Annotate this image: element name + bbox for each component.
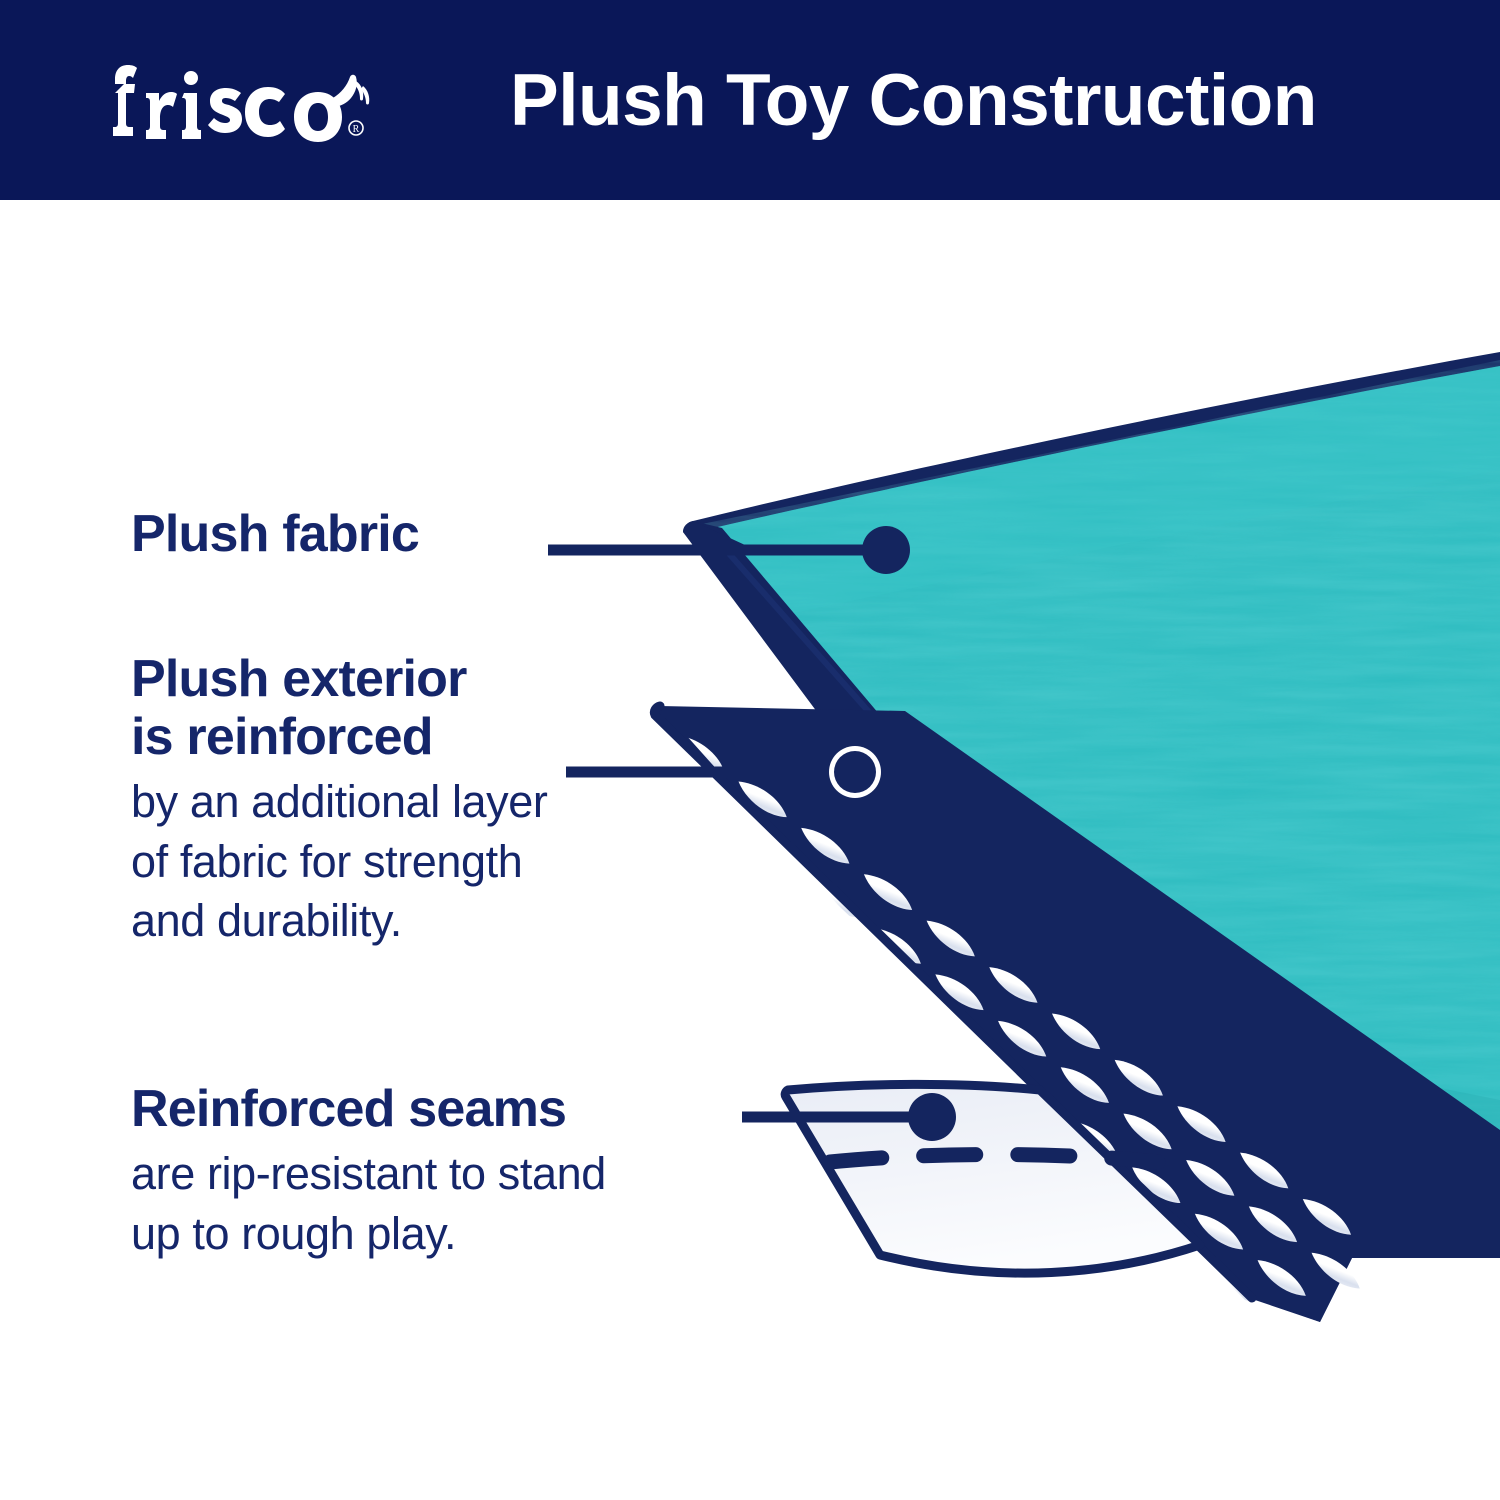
callout-plush-exterior: Plush exterior is reinforced by an addit… [131,650,547,951]
leader-dot-plush-fabric [862,526,910,574]
callout-reinforced-seams-body: are rip-resistant to stand up to rough p… [131,1144,606,1263]
callout-reinforced-seams: Reinforced seams are rip-resistant to st… [131,1080,606,1263]
infographic-page: R Plush Toy Construction [0,0,1500,1500]
callout-plush-exterior-headline: Plush exterior is reinforced [131,650,547,766]
leader-dot-plush-exterior [834,751,876,793]
callout-reinforced-seams-headline: Reinforced seams [131,1080,606,1138]
callout-plush-fabric: Plush fabric [131,505,419,563]
callout-plush-fabric-headline: Plush fabric [131,505,419,563]
callout-plush-exterior-body: by an additional layer of fabric for str… [131,772,547,950]
leader-dot-reinforced-seams [908,1093,956,1141]
